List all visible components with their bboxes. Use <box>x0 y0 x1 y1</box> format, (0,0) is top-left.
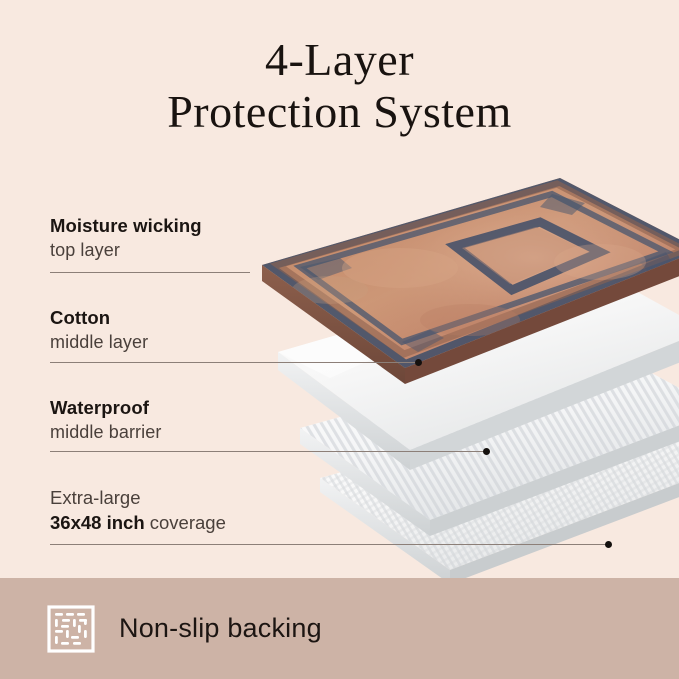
leader-dot-2 <box>415 359 422 366</box>
size-coverage-word: coverage <box>145 512 226 533</box>
label-heading: Waterproof <box>50 396 161 419</box>
leader-dot-3 <box>483 448 490 455</box>
size-line-2: 36x48 inch coverage <box>50 511 226 535</box>
label-size-coverage: Extra-large 36x48 inch coverage <box>50 486 226 535</box>
label-subtitle: middle barrier <box>50 421 161 444</box>
size-dimensions: 36x48 inch <box>50 512 145 533</box>
leader-line-3 <box>50 451 486 452</box>
label-cotton: Cotton middle layer <box>50 306 148 355</box>
leader-line-2 <box>50 362 418 363</box>
infographic-canvas: 4-Layer Protection System <box>0 0 679 679</box>
leader-line-4 <box>50 544 608 545</box>
label-heading: Moisture wicking <box>50 214 202 237</box>
non-slip-weave-icon <box>47 605 95 653</box>
non-slip-banner: Non-slip backing <box>0 578 679 679</box>
leader-dot-4 <box>605 541 612 548</box>
non-slip-banner-text: Non-slip backing <box>119 613 322 644</box>
label-subtitle: middle layer <box>50 331 148 354</box>
size-line-1: Extra-large <box>50 486 226 509</box>
leader-line-1 <box>50 272 250 273</box>
label-subtitle: top layer <box>50 239 202 262</box>
label-moisture-wicking: Moisture wicking top layer <box>50 214 202 263</box>
label-heading: Cotton <box>50 306 148 329</box>
label-waterproof: Waterproof middle barrier <box>50 396 161 445</box>
